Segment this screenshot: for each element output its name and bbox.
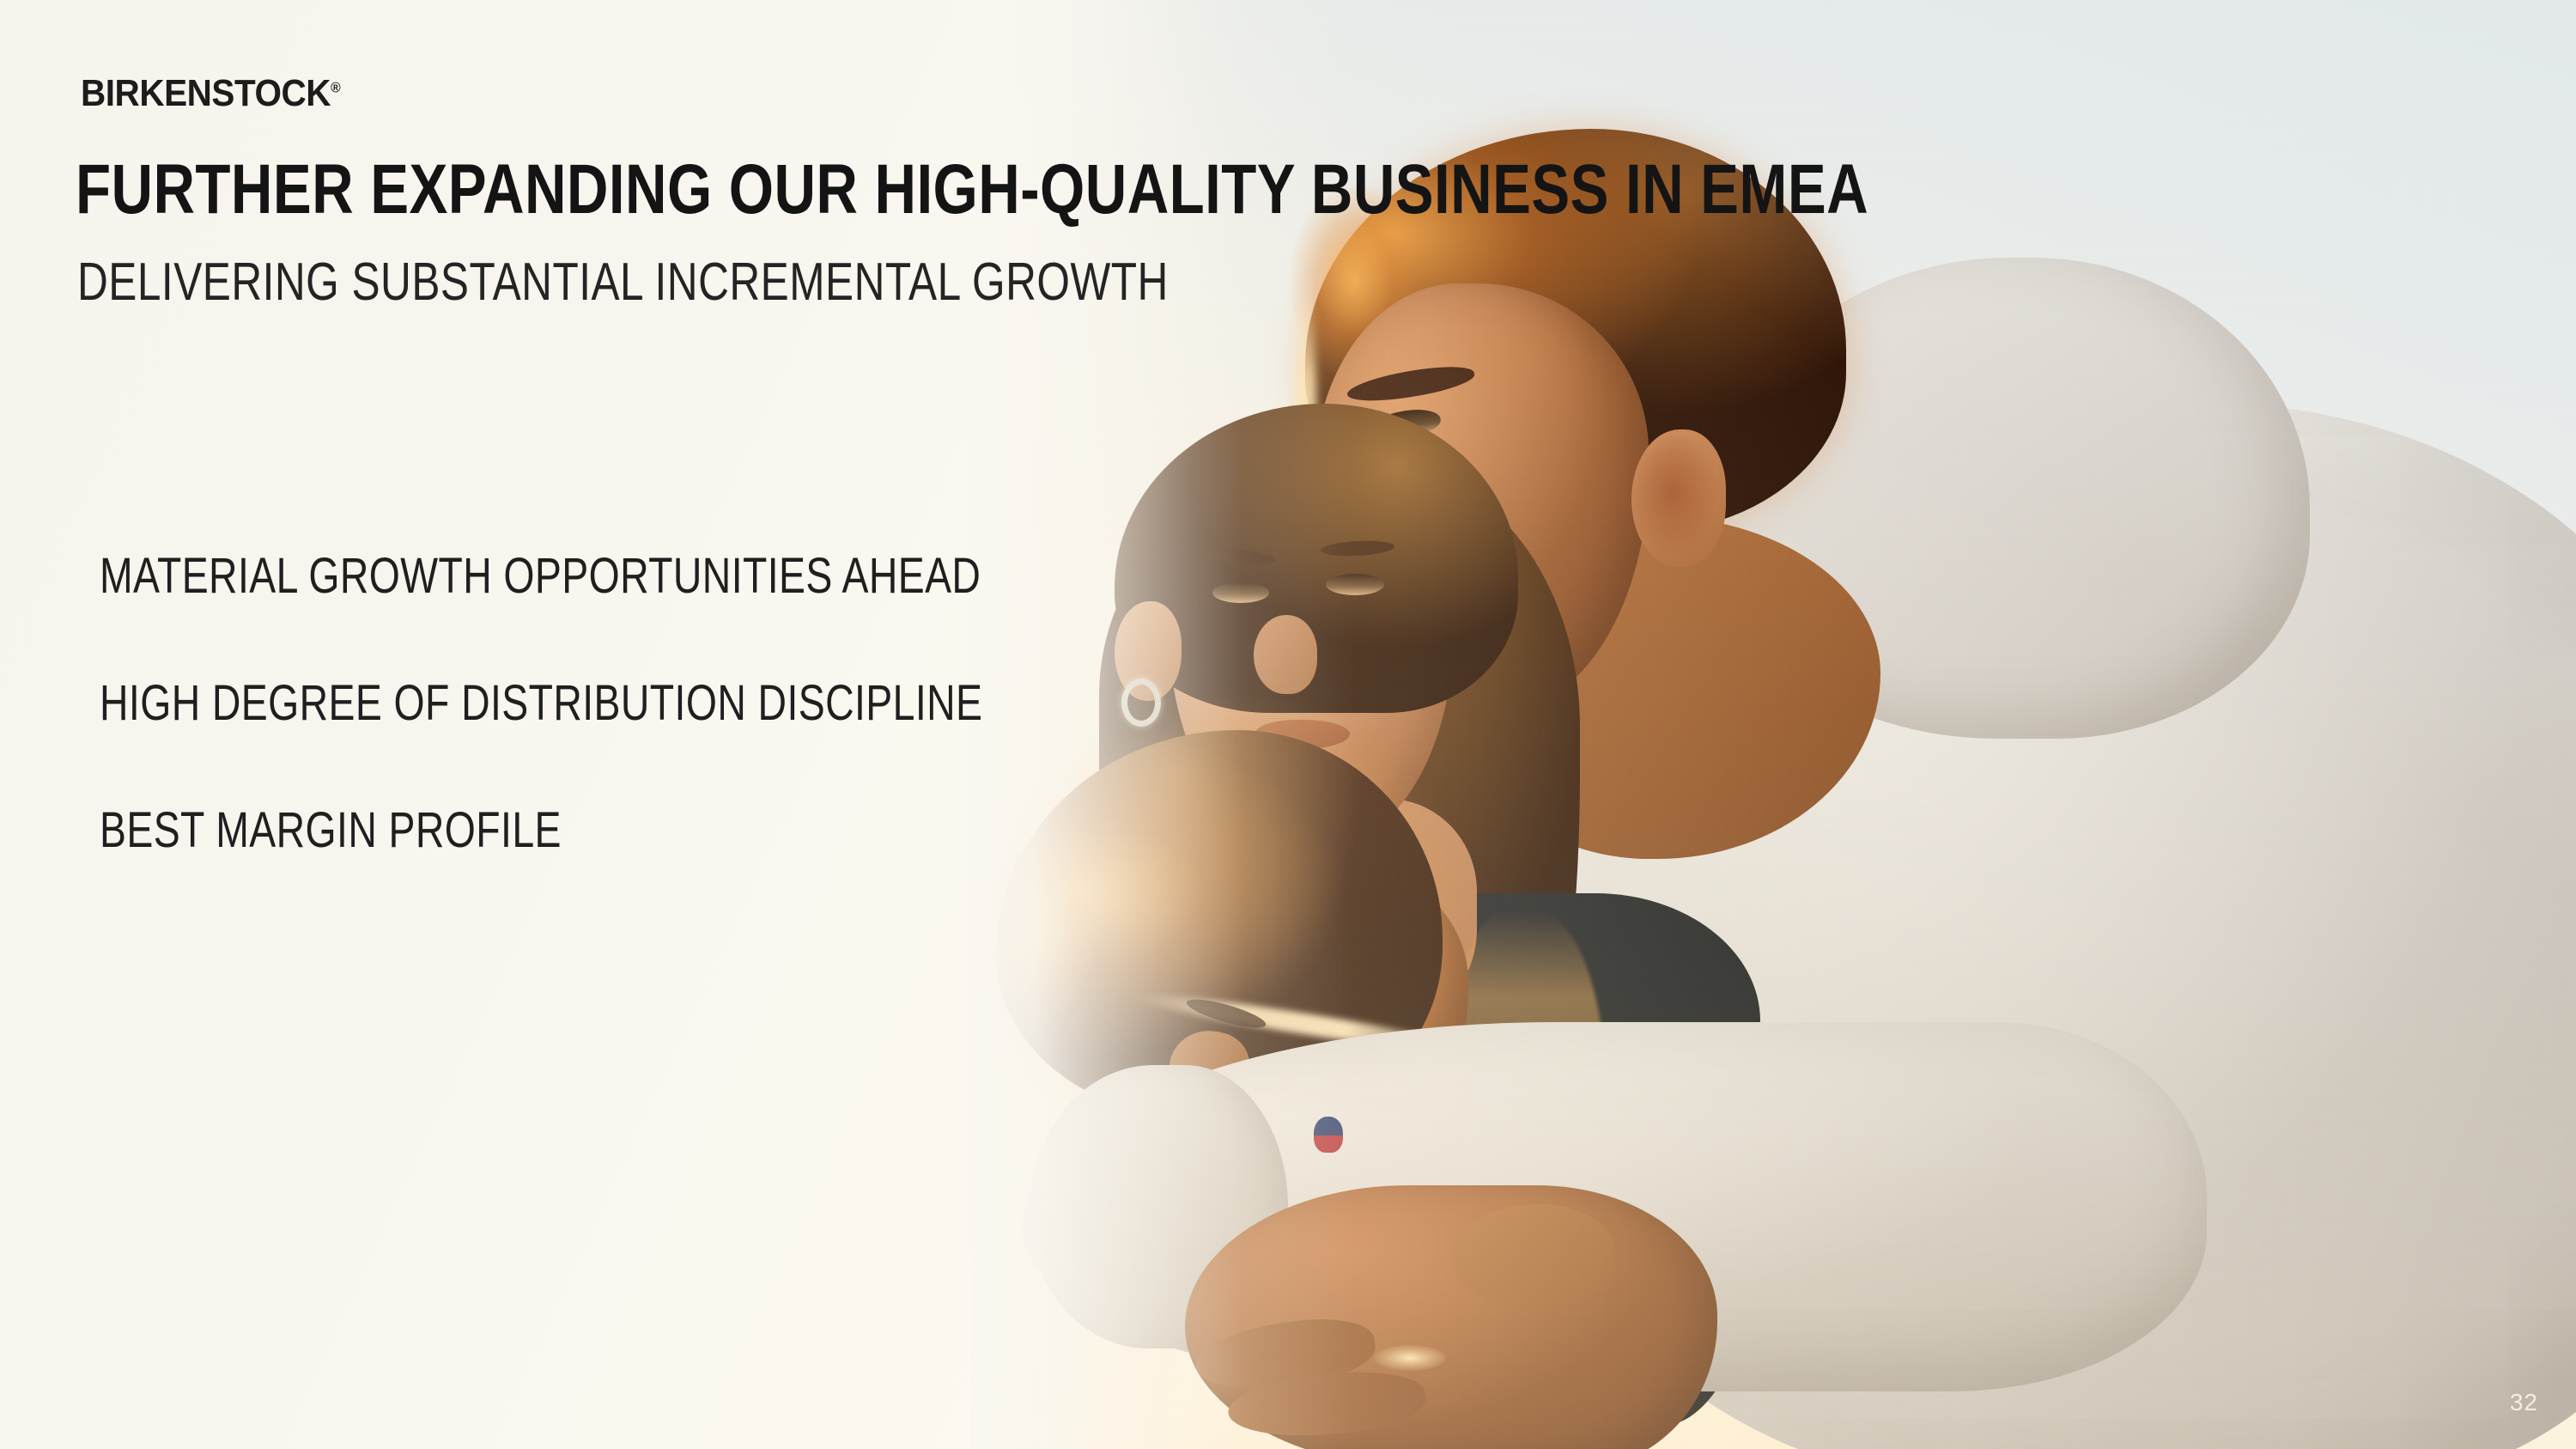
hand-highlight xyxy=(1374,1345,1446,1371)
page-subtitle: DELIVERING SUBSTANTIAL INCREMENTAL GROWT… xyxy=(77,254,1169,311)
logo-wordmark: BIRKENSTOCK xyxy=(81,72,331,114)
page-title: FURTHER EXPANDING OUR HIGH-QUALITY BUSIN… xyxy=(76,153,1868,227)
slide: BIRKENSTOCK® FURTHER EXPANDING OUR HIGH-… xyxy=(0,0,2576,1449)
page-number: 32 xyxy=(2510,1389,2538,1416)
birkenstock-logo: BIRKENSTOCK® xyxy=(81,72,341,115)
bullet-list: MATERIAL GROWTH OPPORTUNITIES AHEAD HIGH… xyxy=(100,550,1388,857)
hand-knuckles xyxy=(1451,1204,1614,1307)
registered-trademark-icon: ® xyxy=(331,79,341,95)
list-item: BEST MARGIN PROFILE xyxy=(100,804,1130,857)
man-hoodie-ear xyxy=(1631,429,1726,567)
list-item: MATERIAL GROWTH OPPORTUNITIES AHEAD xyxy=(100,550,1130,603)
list-item: HIGH DEGREE OF DISTRIBUTION DISCIPLINE xyxy=(100,677,1130,730)
sleeve-logo-patch xyxy=(1314,1117,1343,1153)
